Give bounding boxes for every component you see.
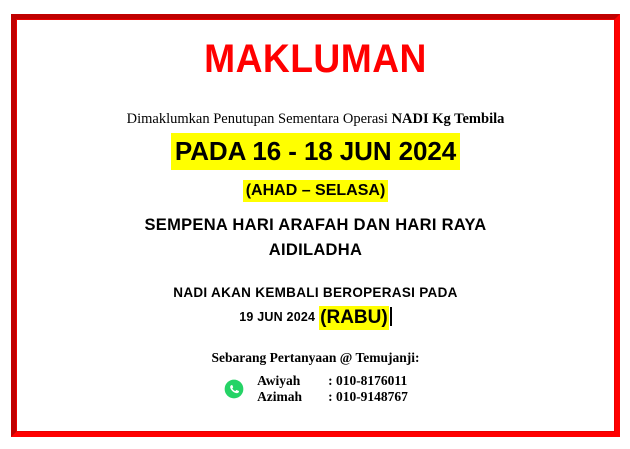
page-title: MAKLUMAN bbox=[38, 37, 593, 81]
reopen-day-highlight: (RABU) bbox=[319, 306, 389, 330]
reopen-date-row: 19 JUN 2024(RABU) bbox=[17, 305, 614, 331]
contact-list: Awiyah : 010-8176011 Azimah : 010-914876… bbox=[17, 373, 614, 405]
document-content: MAKLUMAN Dimaklumkan Penutupan Sementara… bbox=[17, 20, 614, 405]
contact-phone-number: 010-8176011 bbox=[336, 373, 407, 388]
reopen-date-text: 19 JUN 2024 bbox=[239, 310, 315, 324]
contact-name: Azimah bbox=[257, 389, 328, 405]
contact-row: Awiyah : 010-8176011 bbox=[257, 373, 408, 389]
contact-table: Awiyah : 010-8176011 Azimah : 010-914876… bbox=[257, 373, 408, 405]
notice-poster-frame: MAKLUMAN Dimaklumkan Penutupan Sementara… bbox=[11, 14, 620, 437]
intro-line: Dimaklumkan Penutupan Sementara Operasi … bbox=[17, 110, 614, 128]
contact-phone: : 010-9148767 bbox=[328, 389, 408, 405]
intro-regular-text: Dimaklumkan Penutupan Sementara Operasi bbox=[127, 111, 392, 127]
contact-row: Azimah : 010-9148767 bbox=[257, 389, 408, 405]
closure-reason-block: SEMPENA HARI ARAFAH DAN HARI RAYA AIDILA… bbox=[17, 213, 614, 263]
text-cursor-caret bbox=[390, 307, 392, 326]
closure-days-row: (AHAD – SELASA) bbox=[17, 181, 614, 201]
reopen-lead-text: NADI AKAN KEMBALI BEROPERASI PADA bbox=[17, 284, 614, 302]
contact-name: Awiyah bbox=[257, 373, 328, 389]
closure-date-row: PADA 16 - 18 JUN 2024 bbox=[17, 136, 614, 171]
contact-phone: : 010-8176011 bbox=[328, 373, 408, 389]
closure-reason-line-2: AIDILADHA bbox=[17, 238, 614, 263]
closure-days-highlight: (AHAD – SELASA) bbox=[243, 180, 389, 202]
contact-heading: Sebarang Pertanyaan @ Temujanji: bbox=[17, 349, 614, 367]
intro-bold-text: NADI Kg Tembila bbox=[392, 111, 505, 127]
contact-separator: : bbox=[328, 373, 333, 388]
closure-reason-line-1: SEMPENA HARI ARAFAH DAN HARI RAYA bbox=[17, 213, 614, 238]
whatsapp-icon bbox=[223, 378, 245, 400]
notice-poster-body: MAKLUMAN Dimaklumkan Penutupan Sementara… bbox=[16, 19, 615, 432]
contact-separator: : bbox=[328, 389, 333, 404]
contact-phone-number: 010-9148767 bbox=[336, 389, 408, 404]
closure-date-highlight: PADA 16 - 18 JUN 2024 bbox=[171, 133, 460, 170]
